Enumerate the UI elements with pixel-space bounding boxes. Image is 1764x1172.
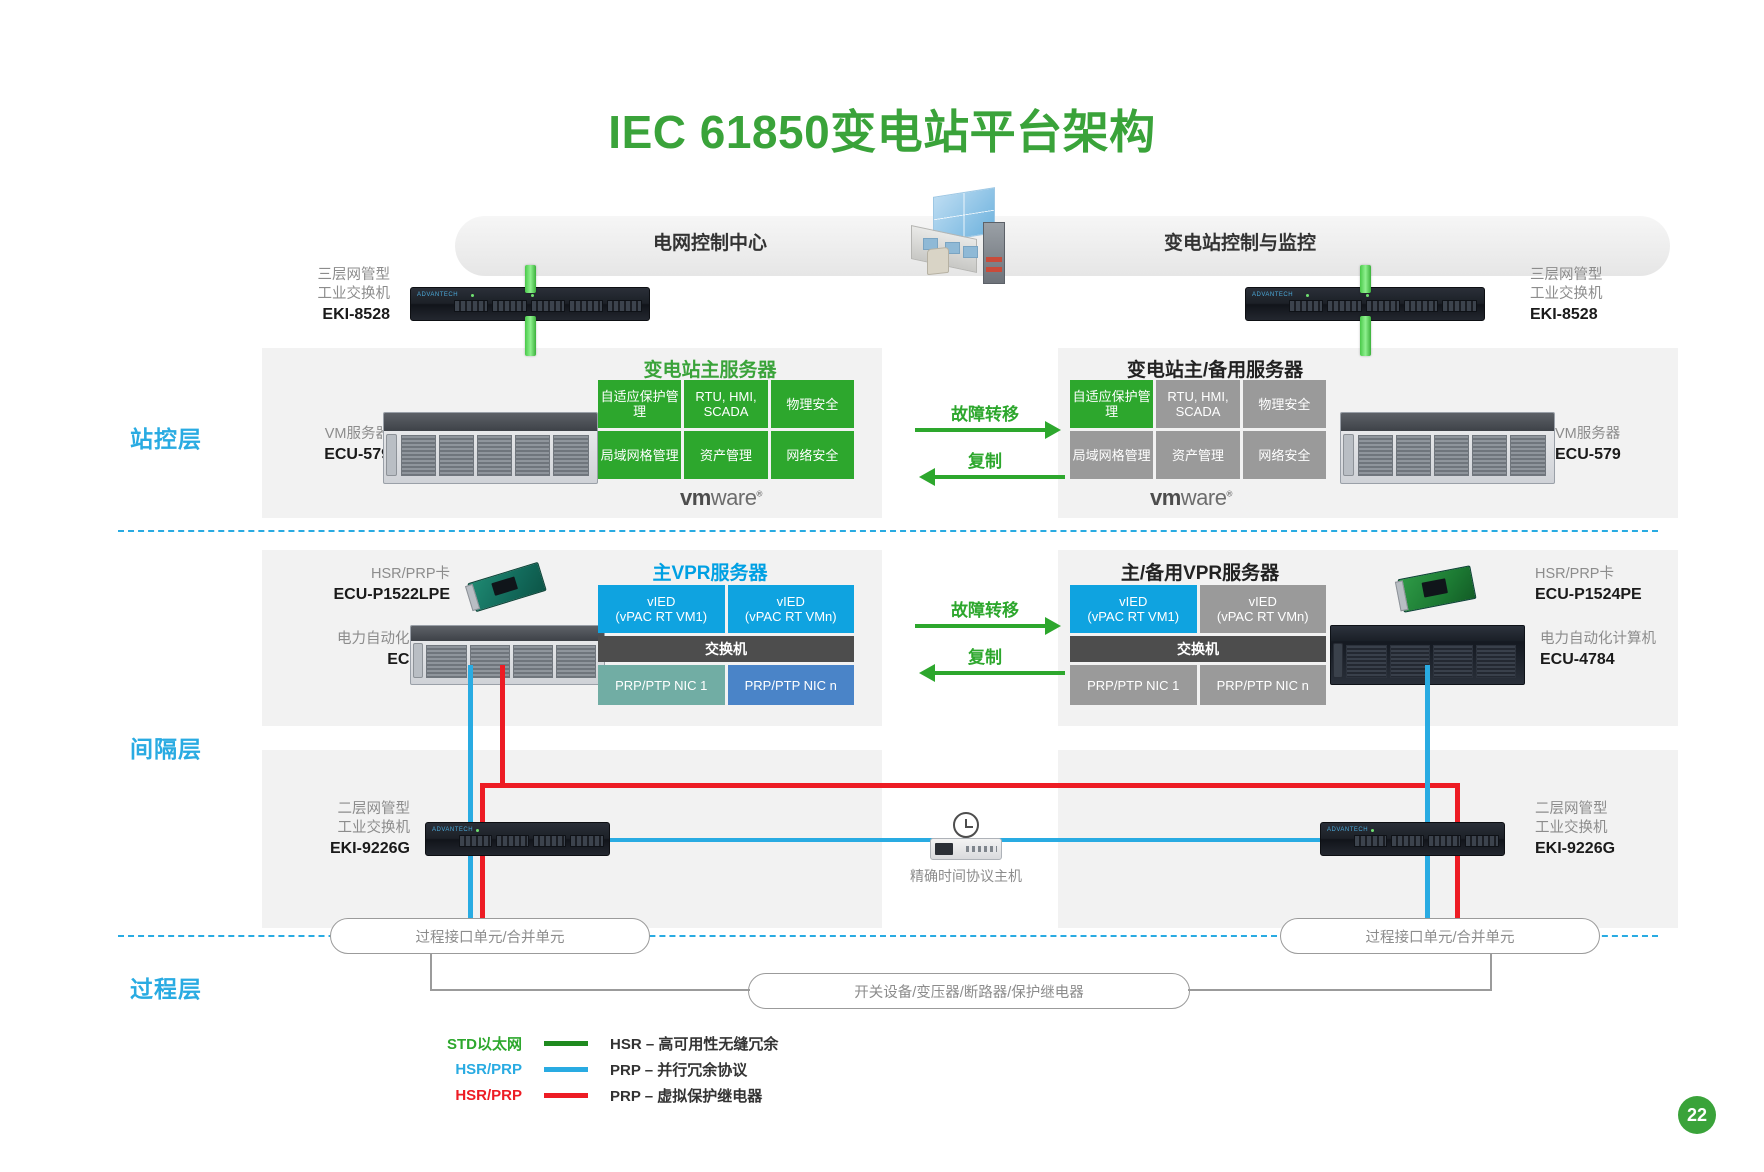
layer-label-process: 过程层 [130,970,202,1004]
bay-left-card-label: HSR/PRP卡 ECU-P1522LPE [320,565,450,604]
connector-right-to-switchgear-h [1188,989,1492,991]
wire-hsr-right-vertical [1425,665,1430,920]
bay-left-server-image [410,625,605,685]
station-right-device-model: ECU-579 [1555,445,1695,464]
bay-right-card-label: HSR/PRP卡 ECU-P1524PE [1535,565,1685,604]
function-cell[interactable]: 自适应保护管理 [1070,380,1153,428]
eth-connector-l3-left-bottom [525,316,536,356]
l3-switch-left-model: EKI-8528 [250,305,390,324]
station-failover-label: 故障转移 [905,400,1065,425]
vied-line1: vIED [777,594,805,609]
station-failover-arrow-line [915,428,1045,432]
bay-left-card-model: ECU-P1522LPE [320,585,450,604]
station-replication-arrow-line [935,475,1065,479]
layer-label-bay: 间隔层 [130,730,202,764]
page-number-badge: 22 [1678,1096,1716,1134]
substation-monitoring-label: 变电站控制与监控 [1030,228,1450,255]
bay-failover-label: 故障转移 [905,596,1065,621]
l2-switch-right-model: EKI-9226G [1535,839,1685,858]
standby-vpr-server-title: 主/备用VPR服务器 [1065,558,1335,585]
vied-box[interactable]: vIED (vPAC RT VMn) [728,585,855,633]
grid-control-center-label: 电网控制中心 [520,228,900,255]
layer-label-station: 站控层 [130,420,202,454]
legend-row: STD以太网 HSR – 高可用性无缝冗余 [430,1030,778,1056]
legend-desc: HSR – 高可用性无缝冗余 [610,1033,778,1054]
nic-box[interactable]: PRP/PTP NIC n [728,665,855,705]
legend: STD以太网 HSR – 高可用性无缝冗余 HSR/PRP PRP – 并行冗余… [430,1030,778,1108]
l2-switch-left-model: EKI-9226G [270,839,410,858]
bay-replication-arrow-head [919,664,935,682]
station-left-device-label: VM服务器 ECU-579 [250,425,390,464]
function-cell[interactable]: 网络安全 [771,431,854,479]
legend-swatch [544,1067,588,1072]
l3-switch-right-label: 三层网管型 工业交换机 EKI-8528 [1530,266,1680,324]
function-cell[interactable]: 局域网格管理 [598,431,681,479]
vied-box[interactable]: vIED (vPAC RT VM1) [1070,585,1197,633]
legend-row: HSR/PRP PRP – 并行冗余协议 [430,1056,778,1082]
legend-row: HSR/PRP PRP – 虚拟保护继电器 [430,1082,778,1108]
ptp-host-device-image [930,838,1002,860]
vmware-logo-right: vmware® [1150,485,1232,511]
bay-failover-arrow-line [915,624,1045,628]
legend-swatch [544,1041,588,1046]
bay-right-card-type: HSR/PRP卡 [1535,566,1614,582]
legend-tag: HSR/PRP [430,1061,522,1078]
wire-prp-left-horizontal [480,783,1460,788]
connector-left-to-switchgear-h [430,989,750,991]
l2-switch-left-type: 二层网管型 [338,801,411,817]
station-right-device-label: VM服务器 ECU-579 [1555,425,1695,464]
primary-vpr-stack: vIED (vPAC RT VM1) vIED (vPAC RT VMn) 交换… [598,585,854,708]
station-right-device-type: VM服务器 [1555,426,1620,442]
function-cell[interactable]: 物理安全 [1243,380,1326,428]
l2-switch-right-image: ADVANTECH [1320,822,1505,856]
function-cell[interactable]: 局域网格管理 [1070,431,1153,479]
standby-substation-server-title: 变电站主/备用服务器 [1065,355,1365,382]
bay-failover-arrow-head [1045,617,1061,635]
bay-right-device-type: 电力自动化计算机 [1540,631,1656,647]
process-interface-bar-left[interactable]: 过程接口单元/合并单元 [330,918,650,954]
function-cell[interactable]: 资产管理 [684,431,767,479]
station-left-server-image [383,412,598,484]
vied-line1: vIED [1249,594,1277,609]
legend-swatch [544,1093,588,1098]
station-replication-arrow-head [919,468,935,486]
vied-box[interactable]: vIED (vPAC RT VMn) [1200,585,1327,633]
vied-line2: (vPAC RT VMn) [1217,609,1309,624]
nic-box[interactable]: PRP/PTP NIC n [1200,665,1327,705]
bay-replication-arrow-line [935,671,1065,675]
l3-switch-left-label: 三层网管型 工业交换机 EKI-8528 [250,266,390,324]
vied-line2: (vPAC RT VM1) [1087,609,1179,624]
eth-connector-l3-right-bottom [1360,316,1371,356]
legend-desc: PRP – 虚拟保护继电器 [610,1085,762,1106]
l3-switch-left-subtype: 工业交换机 [318,286,391,302]
standby-function-grid: 自适应保护管理 RTU, HMI, SCADA 物理安全 局域网格管理 资产管理… [1070,380,1326,479]
function-cell[interactable]: 自适应保护管理 [598,380,681,428]
connector-right-to-switchgear [1490,954,1492,990]
function-cell[interactable]: RTU, HMI, SCADA [684,380,767,428]
diagram-canvas: IEC 61850变电站平台架构 站控层 间隔层 过程层 电网控制中心 变电站控… [0,0,1764,1172]
primary-substation-server-title: 变电站主服务器 [565,355,855,382]
bay-right-device-label: 电力自动化计算机 ECU-4784 [1540,630,1720,669]
standby-vpr-stack: vIED (vPAC RT VM1) vIED (vPAC RT VMn) 交换… [1070,585,1326,708]
station-left-device-model: ECU-579 [250,445,390,464]
function-cell[interactable]: 网络安全 [1243,431,1326,479]
vied-line1: vIED [647,594,675,609]
wire-hsr-right-elbow-h [1425,665,1430,670]
eth-connector-l3-left-top [525,265,536,293]
ptp-host-caption: 精确时间协议主机 [836,866,1096,886]
l3-switch-right-model: EKI-8528 [1530,305,1680,324]
clock-icon [953,812,979,838]
vied-line1: vIED [1119,594,1147,609]
wire-prp-left-vertical [500,665,505,787]
legend-tag: STD以太网 [430,1033,522,1054]
separator-station-bay [118,530,1658,532]
l3-switch-right-type: 三层网管型 [1530,267,1603,283]
l2-switch-left-label: 二层网管型 工业交换机 EKI-9226G [270,800,410,858]
wire-hsr-left-vertical [468,665,473,920]
primary-vpr-server-title: 主VPR服务器 [580,558,840,585]
vied-line2: (vPAC RT VM1) [615,609,707,624]
l3-switch-left-type: 三层网管型 [318,267,391,283]
bay-right-card-model: ECU-P1524PE [1535,585,1685,604]
vpr-switch-bar: 交换机 [1070,636,1326,662]
legend-desc: PRP – 并行冗余协议 [610,1059,747,1080]
nic-box[interactable]: PRP/PTP NIC 1 [598,665,725,705]
vpr-switch-bar: 交换机 [598,636,854,662]
legend-tag: HSR/PRP [430,1087,522,1104]
vied-box[interactable]: vIED (vPAC RT VM1) [598,585,725,633]
connector-left-to-switchgear [430,954,432,990]
vmware-logo-left: vmware® [680,485,762,511]
l2-switch-right-label: 二层网管型 工业交换机 EKI-9226G [1535,800,1685,858]
station-right-server-image [1340,412,1555,484]
bay-left-card-type: HSR/PRP卡 [371,566,450,582]
function-cell[interactable]: 物理安全 [771,380,854,428]
switchgear-bar[interactable]: 开关设备/变压器/断路器/保护继电器 [748,973,1190,1009]
primary-function-grid: 自适应保护管理 RTU, HMI, SCADA 物理安全 局域网格管理 资产管理… [598,380,854,479]
function-cell[interactable]: 资产管理 [1156,431,1239,479]
nic-box[interactable]: PRP/PTP NIC 1 [1070,665,1197,705]
page-title: IEC 61850变电站平台架构 [0,96,1764,162]
l2-switch-left-subtype: 工业交换机 [338,820,411,836]
l2-switch-right-type: 二层网管型 [1535,801,1608,817]
station-failover-arrow-head [1045,421,1061,439]
vied-line2: (vPAC RT VMn) [745,609,837,624]
operator-console-illustration [905,192,1015,290]
function-cell[interactable]: RTU, HMI, SCADA [1156,380,1239,428]
bay-right-device-model: ECU-4784 [1540,650,1720,669]
l2-switch-left-image: ADVANTECH [425,822,610,856]
eth-connector-l3-right-top [1360,265,1371,293]
l3-switch-right-subtype: 工业交换机 [1530,286,1603,302]
station-left-device-type: VM服务器 [325,426,390,442]
l2-switch-right-subtype: 工业交换机 [1535,820,1608,836]
process-interface-bar-right[interactable]: 过程接口单元/合并单元 [1280,918,1600,954]
